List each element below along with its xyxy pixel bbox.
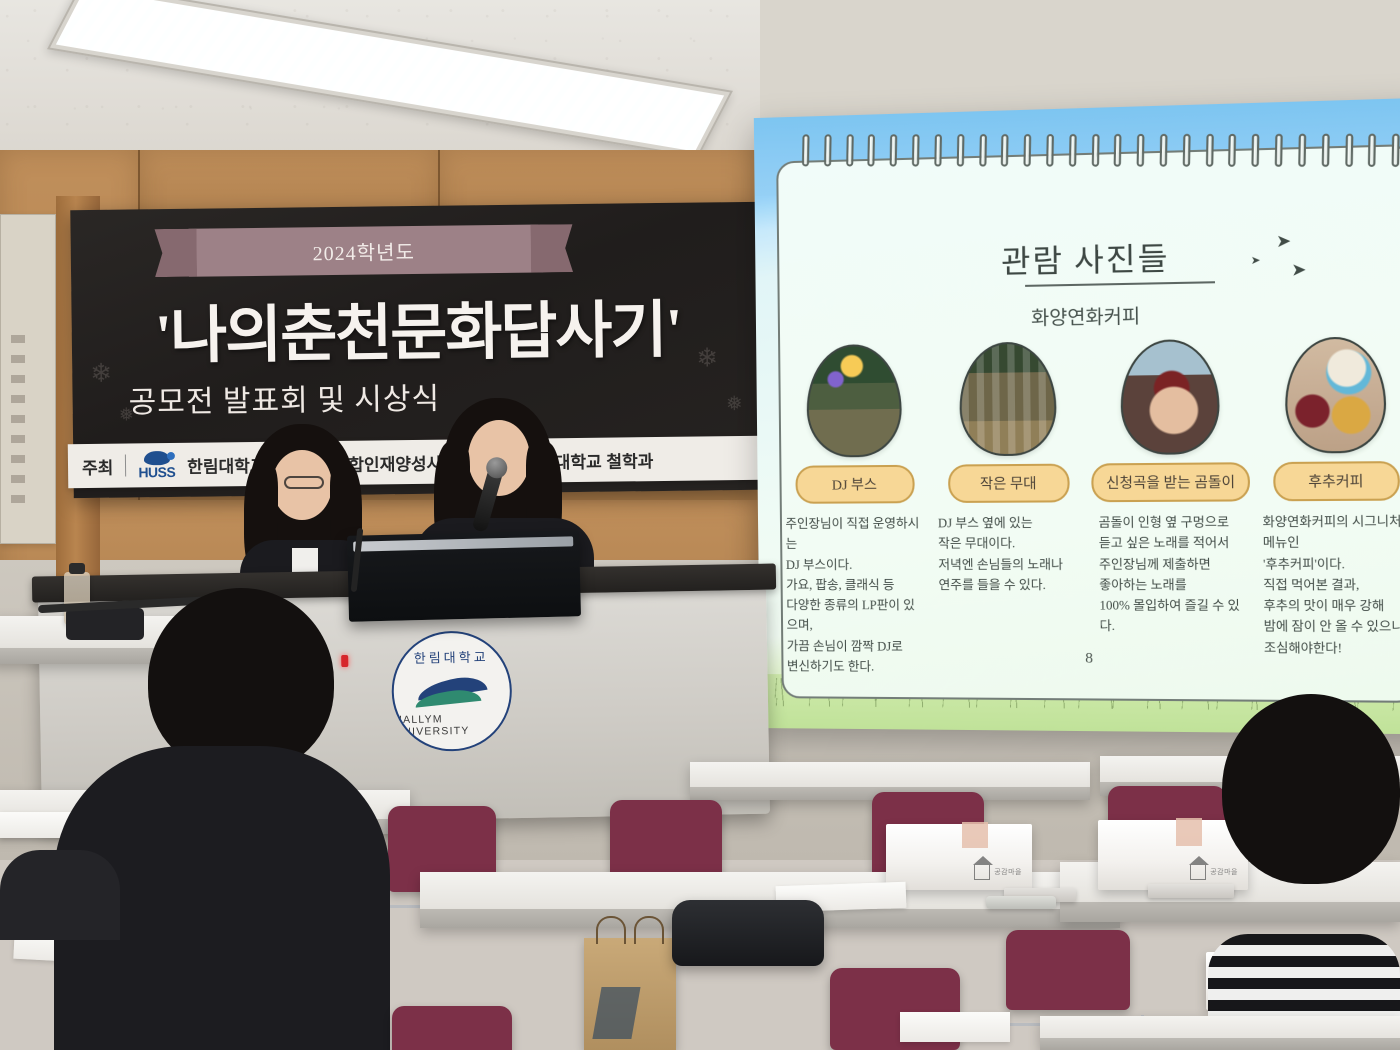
photo-thumbnail-dj-booth (806, 344, 902, 458)
hallym-wave-icon (414, 671, 489, 712)
photo-description: 화양연화커피의 시그니처 메뉴인 '후추커피'이다. 직접 먹어본 결과, 후추… (1262, 511, 1400, 659)
handout-paper (900, 1012, 1010, 1042)
front-desk-foreground (1040, 1016, 1400, 1050)
audience-member-front-right (1208, 694, 1400, 1050)
banner-ribbon: 2024학년도 (189, 224, 540, 276)
gift-box-logo-text: 공감마을 (994, 867, 1022, 877)
backpack (672, 900, 824, 966)
audience-chair-foreground (1006, 930, 1130, 1010)
slide-column: 후추커피 화양연화커피의 시그니처 메뉴인 '후추커피'이다. 직접 먹어본 결… (1259, 336, 1400, 680)
banner-year-label: 2024학년도 (312, 235, 415, 265)
photo-thumbnail-bear-doll (1120, 339, 1220, 455)
smartphone (986, 896, 1056, 909)
lecture-hall-scene: ❄ ❅ ❄ ❅ 2024학년도 '나의춘천문화답사기' 공모전 발표회 및 시상… (0, 0, 1400, 1050)
notepad-spiral-binding (802, 134, 1400, 169)
slide-column: 신청곡을 받는 곰돌이 곰돌이 인형 옆 구멍으로 듣고 싶은 노래를 적어서 … (1090, 338, 1252, 679)
photo-caption-pill: DJ 부스 (795, 465, 914, 504)
photo-thumbnail-small-stage (959, 341, 1057, 456)
hallym-university-logo: 한림대학교 HALLYM UNIVERSITY (391, 630, 513, 752)
photo-description: 곰돌이 인형 옆 구멍으로 듣고 싶은 노래를 적어서 주인장님께 제출하면 좋… (1098, 512, 1244, 637)
bird-silhouettes-icon: ➤ ➤ ➤ (1250, 231, 1325, 280)
calligraphy-scroll-artwork (0, 214, 56, 544)
banner-title: '나의춘천문화답사기' (107, 278, 728, 376)
banner-subtitle: 공모전 발표회 및 시상식 (128, 374, 440, 422)
gift-box-house-icon (974, 864, 990, 880)
slide-photo-columns: DJ 부스 주인장님이 직접 운영하시는 DJ 부스이다. 가요, 팝송, 클래… (782, 336, 1400, 680)
slide-page-number: 8 (759, 649, 1400, 670)
gift-box-house-icon (1190, 864, 1206, 880)
projection-screen: 관람 사진들 화양연화커피 ➤ ➤ ➤ DJ 부스 주인장님이 직접 운영하시는… (754, 98, 1400, 735)
slide-column: DJ 부스 주인장님이 직접 운영하시는 DJ 부스이다. 가요, 팝송, 클래… (782, 343, 928, 677)
sponsor-label: 주최 (82, 453, 114, 478)
paper-shopping-bag (584, 938, 676, 1050)
slide-column: 작은 무대 DJ 부스 옆에 있는 작은 무대이다. 저녁엔 손님들의 노래나 … (935, 341, 1084, 678)
huss-logo: HUSS (138, 451, 175, 479)
photo-thumbnail-pepper-coffee (1284, 336, 1386, 453)
photo-caption-pill: 작은 무대 (948, 464, 1070, 503)
huss-logo-text: HUSS (138, 465, 175, 479)
audience-chair-foreground (392, 1006, 512, 1050)
podium-logo-english-text: HALLYM UNIVERSITY (394, 712, 510, 738)
photo-caption-pill: 후추커피 (1273, 461, 1400, 501)
presentation-slide: 관람 사진들 화양연화커피 ➤ ➤ ➤ DJ 부스 주인장님이 직접 운영하시는… (754, 98, 1400, 735)
sponsor-divider (125, 455, 126, 477)
photo-caption-pill: 신청곡을 받는 곰돌이 (1091, 462, 1250, 502)
audience-member-back-left (0, 830, 120, 940)
photo-description: DJ 부스 옆에 있는 작은 무대이다. 저녁엔 손님들의 노래나 연주를 들을… (938, 513, 1081, 596)
podium-logo-korean-text: 한림대학교 (414, 647, 489, 667)
gift-box: 공감마을 (886, 824, 1032, 890)
audience-member-front-left (54, 588, 390, 1050)
huss-mark-icon (144, 451, 170, 465)
